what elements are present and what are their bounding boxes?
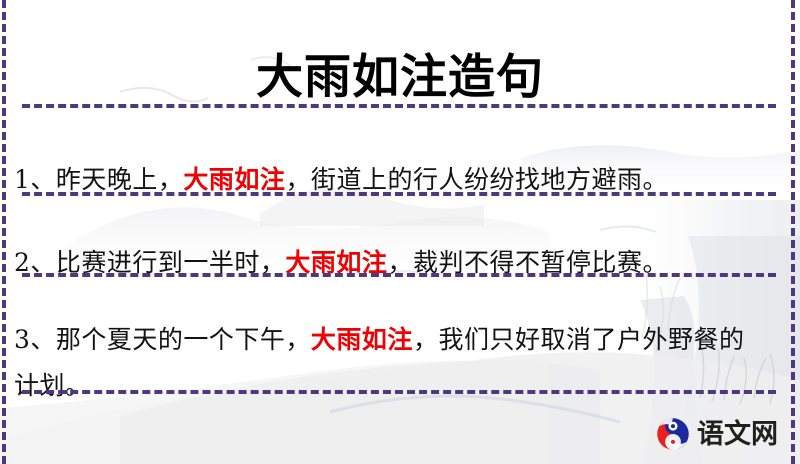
sentence-1-number: 1、 <box>14 165 56 194</box>
sentence-3-number: 3、 <box>14 325 56 354</box>
divider-top <box>22 104 776 108</box>
taiji-fish-logo-icon <box>655 416 691 452</box>
example-sentence-2: 2、比赛进行到一半时，大雨如注，裁判不得不暂停比赛。 <box>14 240 764 286</box>
sentence-1-after: ，街道上的行人纷纷找地方避雨。 <box>285 165 668 194</box>
example-sentence-1: 1、昨天晚上，大雨如注，街道上的行人纷纷找地方避雨。 <box>14 157 764 203</box>
site-logo-text: 语文网 <box>697 421 778 448</box>
sentence-3-before: 那个夏天的一个下午， <box>56 325 311 354</box>
slide-content: 大雨如注造句 1、昨天晚上，大雨如注，街道上的行人纷纷找地方避雨。 2、比赛进行… <box>0 0 800 464</box>
sentence-1-idiom: 大雨如注 <box>183 165 285 194</box>
divider-2 <box>22 273 776 277</box>
divider-bottom <box>22 390 776 394</box>
page-title: 大雨如注造句 <box>0 51 800 105</box>
divider-1 <box>22 192 776 196</box>
site-logo: 语文网 <box>655 416 778 452</box>
sentence-1-before: 昨天晚上， <box>56 165 184 194</box>
sentence-3-idiom: 大雨如注 <box>311 325 413 354</box>
slide-canvas: 大雨如注造句 1、昨天晚上，大雨如注，街道上的行人纷纷找地方避雨。 2、比赛进行… <box>0 0 800 464</box>
example-sentence-3: 3、那个夏天的一个下午，大雨如注，我们只好取消了户外野餐的计划。 <box>14 317 764 409</box>
